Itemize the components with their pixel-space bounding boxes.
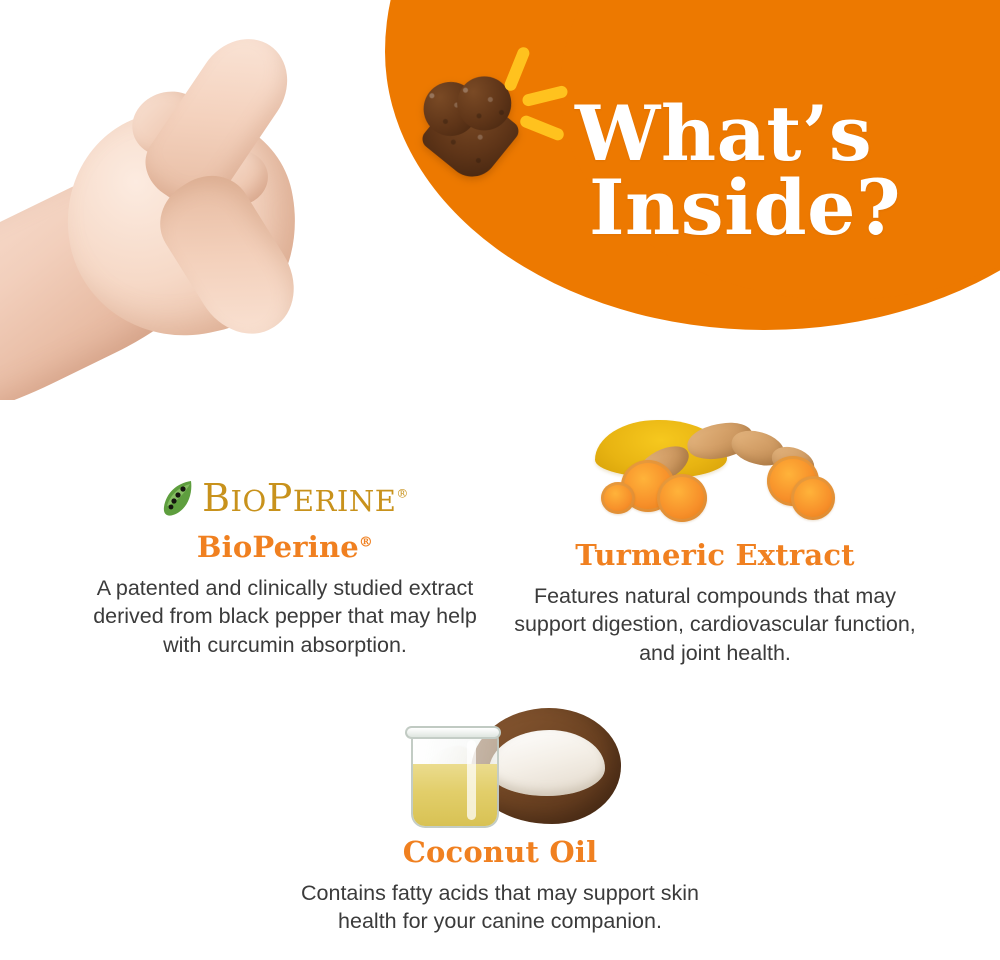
ingredient-title-text: Coconut Oil — [403, 835, 598, 869]
ingredient-title-bioperine: BioPerine® — [84, 532, 486, 564]
page-title-line-2: Inside? — [589, 171, 975, 245]
ingredient-card-bioperine: BIOPERINE® BioPerine® A patented and cli… — [70, 404, 500, 659]
page-title: What’s Inside? — [575, 97, 975, 246]
ingredient-card-turmeric-extract: Turmeric Extract Features natural compou… — [500, 404, 930, 667]
ingredient-card-coconut-oil: Coconut Oil Contains fatty acids that ma… — [285, 701, 715, 936]
oil-jar — [411, 732, 499, 828]
ingredients-row-top: BIOPERINE® BioPerine® A patented and cli… — [0, 404, 1000, 667]
logo-letter-p: P — [267, 476, 293, 520]
hand-illustration — [0, 0, 480, 400]
coconut-oil-image — [299, 701, 701, 829]
turmeric-image — [514, 404, 916, 532]
bioperine-wordmark: BIOPERINE® — [202, 479, 409, 517]
ingredient-title-coconut-oil: Coconut Oil — [299, 837, 701, 869]
jar-glass-highlight — [467, 740, 476, 820]
ingredient-description-turmeric-extract: Features natural compounds that may supp… — [514, 582, 916, 667]
pea-pod-leaf-icon — [161, 478, 195, 518]
logo-letters-erine: ERINE — [293, 484, 397, 518]
coconut-oil-liquid — [413, 764, 497, 826]
jar-rim — [405, 726, 501, 739]
turmeric-slice — [791, 476, 835, 520]
ingredient-title-text: BioPerine — [197, 530, 359, 564]
logo-registered-mark: ® — [396, 486, 409, 500]
ingredient-description-coconut-oil: Contains fatty acids that may support sk… — [299, 879, 701, 936]
ingredient-description-bioperine: A patented and clinically studied extrac… — [84, 574, 486, 659]
logo-letter-b: B — [202, 476, 230, 520]
ingredient-title-turmeric-extract: Turmeric Extract — [514, 540, 916, 572]
logo-letters-io: IO — [231, 484, 267, 518]
ingredients-section: BIOPERINE® BioPerine® A patented and cli… — [0, 404, 1000, 936]
ingredient-title-text: Turmeric Extract — [575, 538, 855, 572]
infographic-page: What’s Inside? — [0, 0, 1000, 960]
turmeric-slice — [601, 482, 635, 514]
registered-mark: ® — [359, 534, 373, 550]
hero-section: What’s Inside? — [0, 0, 1000, 400]
ingredients-row-bottom: Coconut Oil Contains fatty acids that ma… — [0, 701, 1000, 936]
bioperine-logo: BIOPERINE® — [84, 404, 486, 524]
turmeric-slice — [657, 474, 707, 522]
